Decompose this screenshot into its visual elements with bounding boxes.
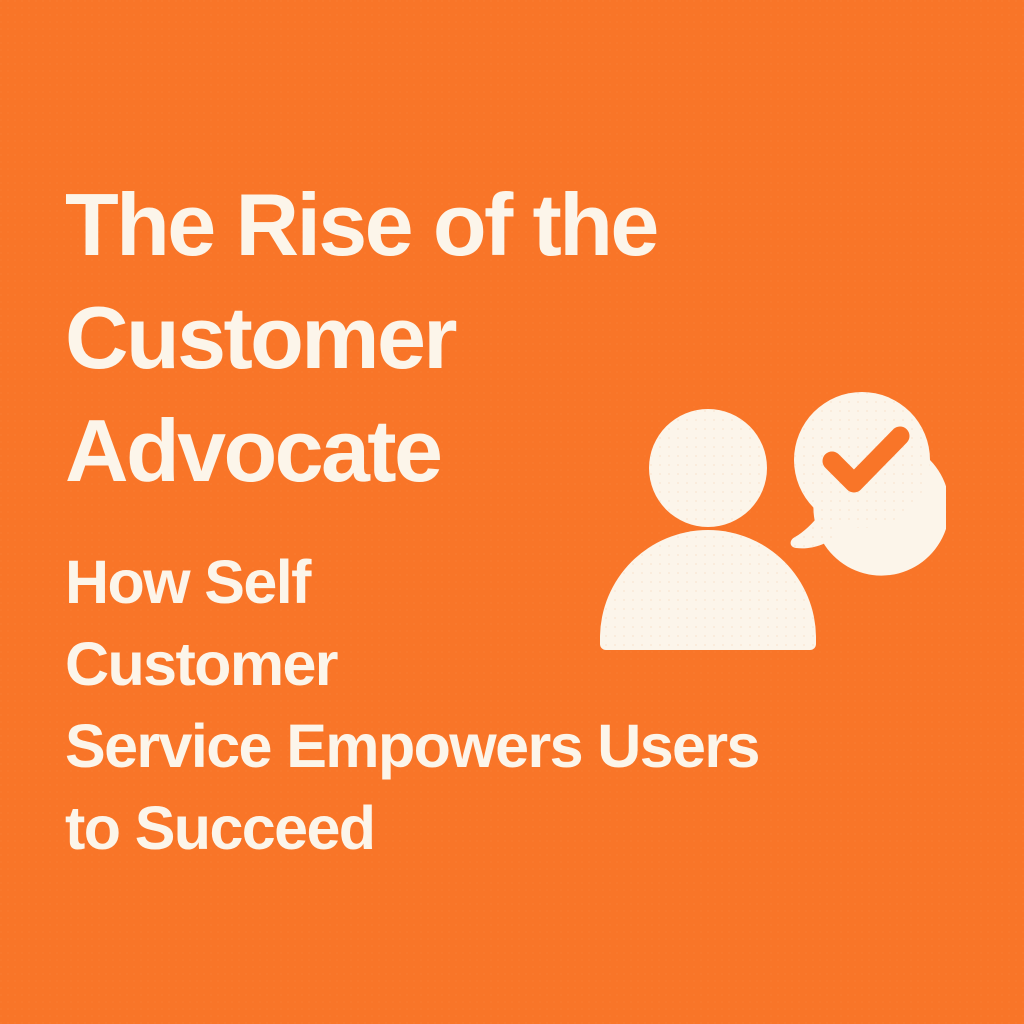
subhead-line-1: How Self <box>65 541 545 623</box>
person-head-icon <box>649 409 767 527</box>
poster-canvas: The Rise of the Customer Advocate How Se… <box>0 0 1024 1024</box>
page-title: The Rise of the Customer Advocate <box>65 168 625 507</box>
subhead-line-2: Customer <box>65 623 545 705</box>
customer-advocate-illustration <box>586 382 946 662</box>
headline-line-3: Advocate <box>65 394 625 507</box>
headline-line-2: Customer <box>65 281 625 394</box>
subhead-line-3: Service Empowers Users <box>65 705 945 787</box>
speech-bubble-icon <box>791 392 946 576</box>
headline-line-1: The Rise of the <box>65 168 625 281</box>
person-body-icon <box>600 530 816 650</box>
subhead-line-4: to Succeed <box>65 787 945 869</box>
